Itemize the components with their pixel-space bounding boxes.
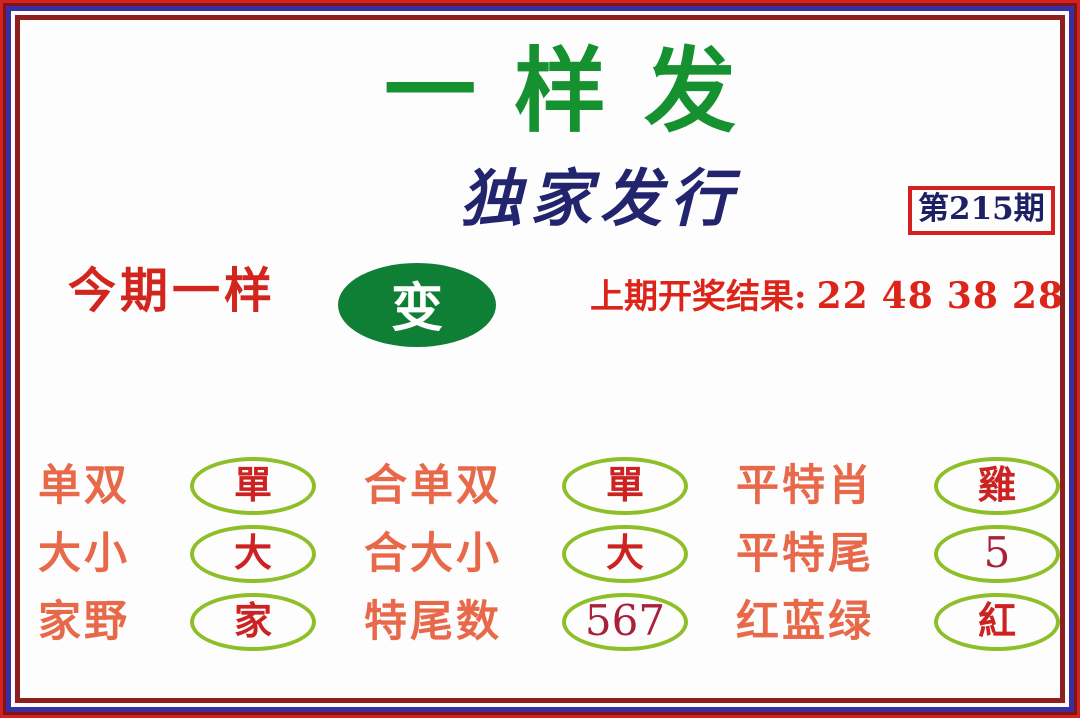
prediction-answer-ellipse: 5	[934, 525, 1060, 583]
page-title: 一样发	[270, 46, 850, 138]
prediction-label: 大小	[38, 533, 188, 576]
draw-number: 22	[817, 275, 869, 317]
prediction-column: 合单双單合大小大特尾数567	[364, 455, 688, 653]
prediction-label: 家野	[38, 601, 188, 644]
issue-number-badge: 第215期	[908, 186, 1055, 235]
prediction-row: 单双單	[38, 455, 316, 517]
prediction-answer-text: 5	[984, 532, 1011, 576]
prediction-answer-text: 單	[606, 466, 644, 506]
prediction-answer-ellipse: 567	[562, 593, 688, 651]
prediction-answer-ellipse: 家	[190, 593, 316, 651]
lottery-poster: 一样发 独家发行 第215期 今期一样 变 上期开奖结果:22483828011…	[0, 0, 1080, 718]
banner-keyword-text: 变	[338, 263, 496, 347]
prediction-answer-ellipse: 單	[190, 457, 316, 515]
prediction-answer-ellipse: 雞	[934, 457, 1060, 515]
prediction-label: 合大小	[364, 533, 560, 576]
prediction-answer-ellipse: 單	[562, 457, 688, 515]
prediction-row: 家野家	[38, 591, 316, 653]
prediction-row: 大小大	[38, 523, 316, 585]
prediction-answer-text: 大	[606, 534, 644, 574]
prediction-answer-text: 家	[234, 602, 272, 642]
predictions-grid: 单双單大小大家野家合单双單合大小大特尾数567平特肖雞平特尾5红蓝绿紅	[38, 455, 1060, 653]
draw-number: 48	[882, 275, 934, 317]
previous-draw-numbers: 224838280119+15	[817, 275, 1060, 317]
prediction-row: 合大小大	[364, 523, 688, 585]
prediction-answer-text: 大	[234, 534, 272, 574]
prediction-row: 红蓝绿紅	[736, 591, 1060, 653]
banner-label: 今期一样	[68, 267, 276, 315]
poster-canvas: 一样发 独家发行 第215期 今期一样 变 上期开奖结果:22483828011…	[20, 20, 1060, 698]
prediction-answer-ellipse: 紅	[934, 593, 1060, 651]
subtitle-publisher: 独家发行	[460, 168, 740, 230]
draw-number: 28	[1012, 275, 1060, 317]
prediction-answer-ellipse: 大	[562, 525, 688, 583]
banner-keyword-ellipse: 变	[338, 263, 496, 347]
prediction-row: 合单双單	[364, 455, 688, 517]
prediction-label: 合单双	[364, 465, 560, 508]
prediction-column: 单双單大小大家野家	[38, 455, 316, 653]
prediction-label: 平特肖	[736, 465, 932, 508]
prediction-row: 平特肖雞	[736, 455, 1060, 517]
prediction-label: 特尾数	[364, 601, 560, 644]
draw-number: 38	[947, 275, 999, 317]
previous-draw-caption: 上期开奖结果:	[590, 277, 807, 317]
prediction-column: 平特肖雞平特尾5红蓝绿紅	[736, 455, 1060, 653]
prediction-label: 红蓝绿	[736, 601, 932, 644]
prediction-row: 特尾数567	[364, 591, 688, 653]
prediction-label: 平特尾	[736, 533, 932, 576]
previous-draw-result: 上期开奖结果:224838280119+15	[590, 278, 1060, 314]
prediction-answer-text: 567	[585, 600, 665, 644]
prediction-answer-text: 單	[234, 466, 272, 506]
prediction-row: 平特尾5	[736, 523, 1060, 585]
prediction-answer-ellipse: 大	[190, 525, 316, 583]
prediction-answer-text: 雞	[978, 466, 1016, 506]
prediction-label: 单双	[38, 465, 188, 508]
prediction-answer-text: 紅	[978, 602, 1016, 642]
